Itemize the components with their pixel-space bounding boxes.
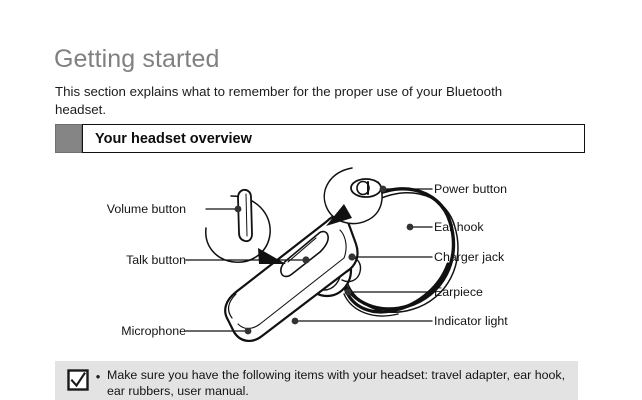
leader-dot-volume-button <box>235 206 242 213</box>
intro-paragraph: This section explains what to remember f… <box>55 83 555 119</box>
section-header-bar: Your headset overview <box>82 124 585 153</box>
checkbox-checked-icon <box>67 369 89 391</box>
section-header-title: Your headset overview <box>95 131 252 147</box>
leader-dot-power-button <box>380 186 387 193</box>
diagram-label-power-button: Power button <box>434 182 507 196</box>
leader-dot-indicator-light <box>292 318 299 325</box>
power-button-magnifier <box>324 168 382 226</box>
note-bullet: • <box>89 369 107 385</box>
diagram-label-ear-hook: Ear hook <box>434 220 484 234</box>
leader-dot-talk-button <box>302 256 309 263</box>
volume-button-magnifier <box>206 190 286 264</box>
diagram-label-earpiece: Earpiece <box>434 285 483 299</box>
headset-overview-diagram: Volume button Talk button Microphone Pow… <box>0 160 642 350</box>
leader-dot-charger-jack <box>348 253 355 260</box>
leader-dot-microphone <box>245 328 252 335</box>
diagram-label-indicator-light: Indicator light <box>434 314 508 328</box>
diagram-label-charger-jack: Charger jack <box>434 250 505 264</box>
page-title: Getting started <box>54 45 219 74</box>
diagram-label-microphone: Microphone <box>121 324 186 338</box>
section-header-marker <box>55 124 82 153</box>
leader-dot-earpiece <box>345 289 352 296</box>
note-text: Make sure you have the following items w… <box>107 368 568 399</box>
leader-dot-ear-hook <box>407 224 414 231</box>
diagram-label-volume-button: Volume button <box>107 202 186 216</box>
diagram-label-talk-button: Talk button <box>126 253 186 267</box>
section-header: Your headset overview <box>55 124 585 153</box>
note-box: • Make sure you have the following items… <box>55 361 578 400</box>
